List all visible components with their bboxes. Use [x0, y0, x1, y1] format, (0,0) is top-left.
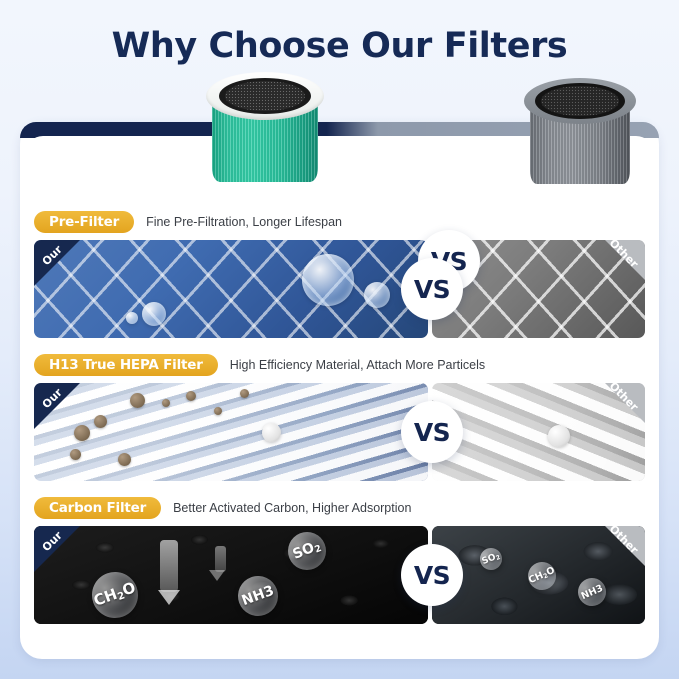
dust-particle	[240, 389, 249, 398]
hero-products	[20, 66, 659, 196]
desc-hepa-filter: High Efficiency Material, Attach More Pa…	[230, 358, 485, 372]
our-band-hepa: Our	[34, 383, 428, 481]
our-filter-mesh	[225, 81, 305, 111]
comparison-bands-hepa: Our Other VS	[34, 383, 645, 481]
section-label-row: H13 True HEPA Filter High Efficiency Mat…	[34, 353, 645, 377]
vs-badge-carbon: VS	[401, 544, 463, 606]
vs-badge-hepa: VS	[401, 401, 463, 463]
dust-particle	[162, 399, 170, 407]
vs-badge-pre-filter: VS	[401, 258, 463, 320]
captured-particle	[262, 423, 281, 442]
adsorption-arrow-shaft	[160, 540, 178, 592]
particle-bubble	[142, 302, 166, 326]
molecule-nh3-label: NH3	[240, 583, 277, 609]
section-label-row: Pre-Filter Fine Pre-Filtration, Longer L…	[34, 210, 645, 234]
dust-particle	[214, 407, 222, 415]
our-band-pre-filter: Our	[34, 240, 428, 338]
dust-particle	[118, 453, 131, 466]
molecule-nh3-label: NH3	[579, 582, 604, 601]
other-filter-product-image	[524, 74, 636, 186]
adsorption-arrow-shaft	[215, 546, 226, 572]
section-pre-filter: Pre-Filter Fine Pre-Filtration, Longer L…	[34, 210, 645, 338]
page-title: Why Choose Our Filters	[0, 26, 679, 66]
our-band-carbon: CH2O SO2 NH3 Our	[34, 526, 428, 624]
section-hepa-filter: H13 True HEPA Filter High Efficiency Mat…	[34, 353, 645, 481]
molecule-so2-label: SO2	[291, 538, 324, 564]
molecule-ch2o-label: CH2O	[527, 565, 557, 587]
dust-particle	[186, 391, 196, 401]
molecule-so2-label: SO2	[481, 551, 502, 567]
adsorption-arrow-head	[158, 590, 180, 605]
particle-bubble	[364, 282, 390, 308]
comparison-bands-pre-filter: Our Other VS	[34, 240, 645, 338]
section-label-row: Carbon Filter Better Activated Carbon, H…	[34, 496, 645, 520]
pill-pre-filter: Pre-Filter	[34, 211, 134, 233]
adsorption-arrow-head	[209, 570, 225, 581]
comparison-card: VS Pre-Filter Fine Pre-Filtration, Longe…	[20, 122, 659, 659]
other-band-carbon: SO2 CH2O NH3 Other	[432, 526, 645, 624]
pill-hepa-filter: H13 True HEPA Filter	[34, 354, 218, 376]
comparison-bands-carbon: CH2O SO2 NH3 Our SO2 CH2O	[34, 526, 645, 624]
desc-pre-filter: Fine Pre-Filtration, Longer Lifespan	[146, 215, 342, 229]
particle-bubble	[126, 312, 138, 324]
our-filter-product-image	[206, 66, 324, 184]
our-carbon-texture	[34, 526, 428, 624]
dust-particle	[70, 449, 81, 460]
other-band-hepa: Other	[432, 383, 645, 481]
dust-particle	[94, 415, 107, 428]
other-filter-mesh	[541, 86, 619, 116]
section-carbon-filter: Carbon Filter Better Activated Carbon, H…	[34, 496, 645, 624]
desc-carbon-filter: Better Activated Carbon, Higher Adsorpti…	[173, 501, 411, 515]
captured-particle	[548, 425, 570, 447]
dust-particle	[130, 393, 145, 408]
our-hepa-texture	[34, 383, 428, 481]
molecule-ch2o-label: CH2O	[91, 579, 138, 612]
particle-bubble	[302, 254, 354, 306]
pill-carbon-filter: Carbon Filter	[34, 497, 161, 519]
